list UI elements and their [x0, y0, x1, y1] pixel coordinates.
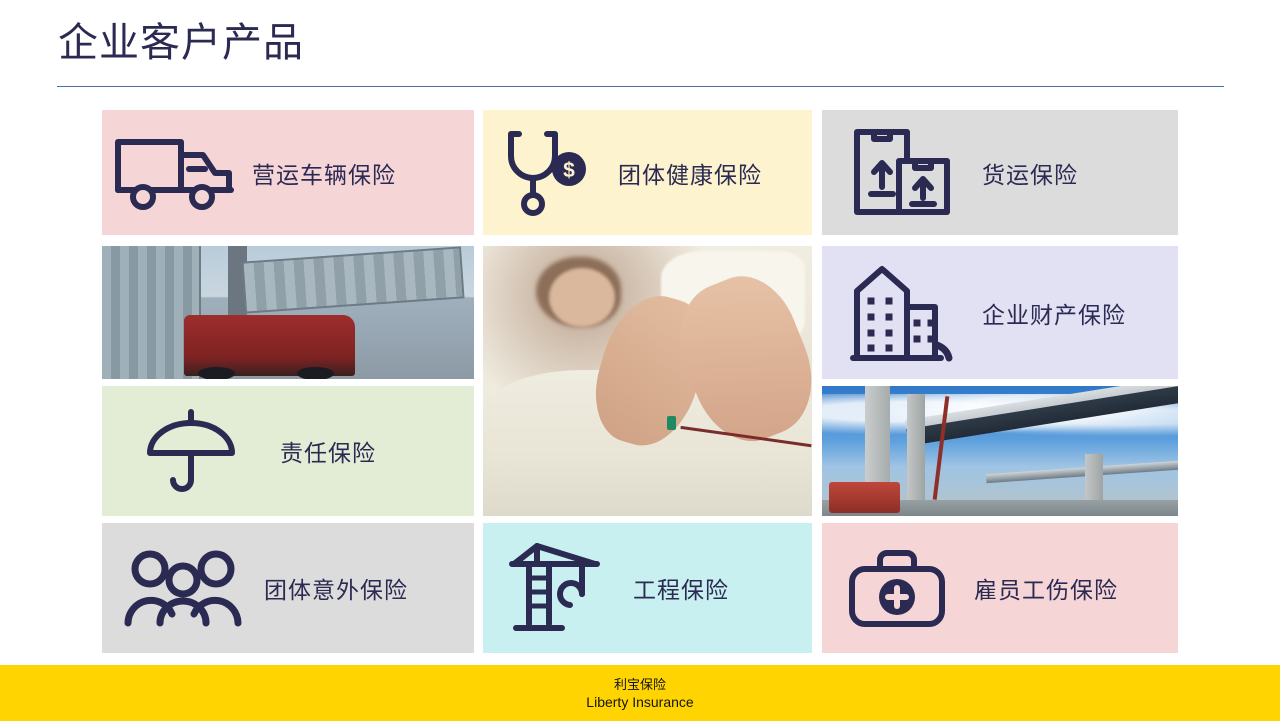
photo-container-yard	[102, 246, 474, 379]
hospital-patient-photo	[483, 246, 812, 516]
card-label: 企业财产保险	[982, 296, 1126, 330]
card-label: 工程保险	[633, 571, 729, 605]
bridge-construction-photo	[822, 386, 1178, 516]
photo-detail-iv-port	[667, 416, 676, 430]
buildings-icon	[822, 263, 982, 363]
card-label: 雇员工伤保险	[974, 571, 1118, 605]
card-group-health[interactable]: $ 团体健康保险	[483, 110, 812, 235]
footer-brand-en: Liberty Insurance	[586, 693, 693, 711]
photo-hospital	[483, 246, 812, 516]
page-title: 企业客户产品	[58, 18, 304, 68]
photo-detail-bridge-deck-far	[986, 459, 1178, 482]
truck-icon	[102, 136, 252, 210]
card-commercial-property[interactable]: 企业财产保险	[822, 246, 1178, 379]
three-people-icon	[102, 549, 264, 627]
stethoscope-dollar-icon: $	[483, 129, 618, 217]
first-aid-kit-icon	[822, 547, 974, 629]
product-grid: 营运车辆保险 $ 团体健康保险	[102, 110, 1178, 653]
shipping-container-photo	[102, 246, 474, 379]
photo-detail-face	[549, 268, 615, 327]
photo-detail-pier	[907, 394, 925, 516]
footer-brand-cn: 利宝保险	[614, 676, 666, 693]
umbrella-icon	[102, 409, 280, 493]
photo-detail-truck	[829, 482, 900, 513]
svg-text:$: $	[563, 159, 575, 182]
tower-crane-icon	[483, 542, 633, 634]
card-label: 团体意外保险	[264, 571, 408, 605]
boxes-arrows-icon	[822, 127, 982, 219]
card-employee-injury[interactable]: 雇员工伤保险	[822, 523, 1178, 653]
card-label: 营运车辆保险	[252, 156, 396, 190]
card-engineering[interactable]: 工程保险	[483, 523, 812, 653]
card-group-accident[interactable]: 团体意外保险	[102, 523, 474, 653]
photo-detail-forklift	[184, 315, 355, 376]
footer-brand-bar: 利宝保险 Liberty Insurance	[0, 665, 1280, 721]
photo-bridge	[822, 386, 1178, 516]
card-label: 责任保险	[280, 434, 376, 468]
card-cargo[interactable]: 货运保险	[822, 110, 1178, 235]
card-commercial-vehicle[interactable]: 营运车辆保险	[102, 110, 474, 235]
card-label: 团体健康保险	[618, 156, 762, 190]
card-liability[interactable]: 责任保险	[102, 386, 474, 516]
title-divider	[57, 86, 1224, 87]
card-label: 货运保险	[982, 156, 1078, 190]
